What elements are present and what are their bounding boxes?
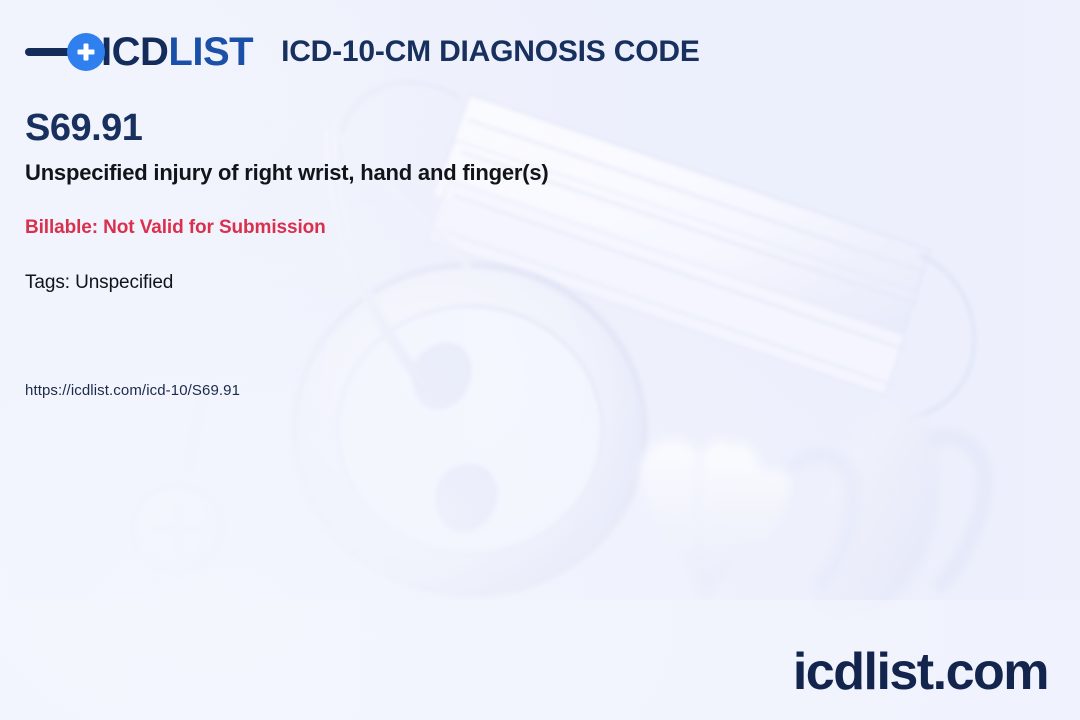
paper-heart-and-hand-shape <box>640 400 985 618</box>
tags-label: Tags: Unspecified <box>25 272 885 294</box>
billable-status: Billable: Not Valid for Submission <box>25 217 885 239</box>
page-title: ICD-10-CM DIAGNOSIS CODE <box>281 35 700 69</box>
diagnosis-description: Unspecified injury of right wrist, hand … <box>25 159 885 187</box>
logo-wordmark: ICDLIST <box>101 32 253 72</box>
plus-circle-icon <box>67 33 105 71</box>
icd-code-card: ICDLIST ICD-10-CM DIAGNOSIS CODE S69.91 … <box>0 0 1080 720</box>
header: ICDLIST ICD-10-CM DIAGNOSIS CODE <box>25 27 700 77</box>
source-url[interactable]: https://icdlist.com/icd-10/S69.91 <box>25 382 240 399</box>
diagnosis-code: S69.91 <box>25 108 885 150</box>
code-details: S69.91 Unspecified injury of right wrist… <box>25 108 885 294</box>
logo-word-icd: ICD <box>101 30 168 74</box>
dash-icon <box>25 48 73 56</box>
footer-brand: icdlist.com <box>793 646 1048 698</box>
logo-word-list: LIST <box>168 30 253 74</box>
icdlist-logo[interactable]: ICDLIST <box>25 29 253 75</box>
